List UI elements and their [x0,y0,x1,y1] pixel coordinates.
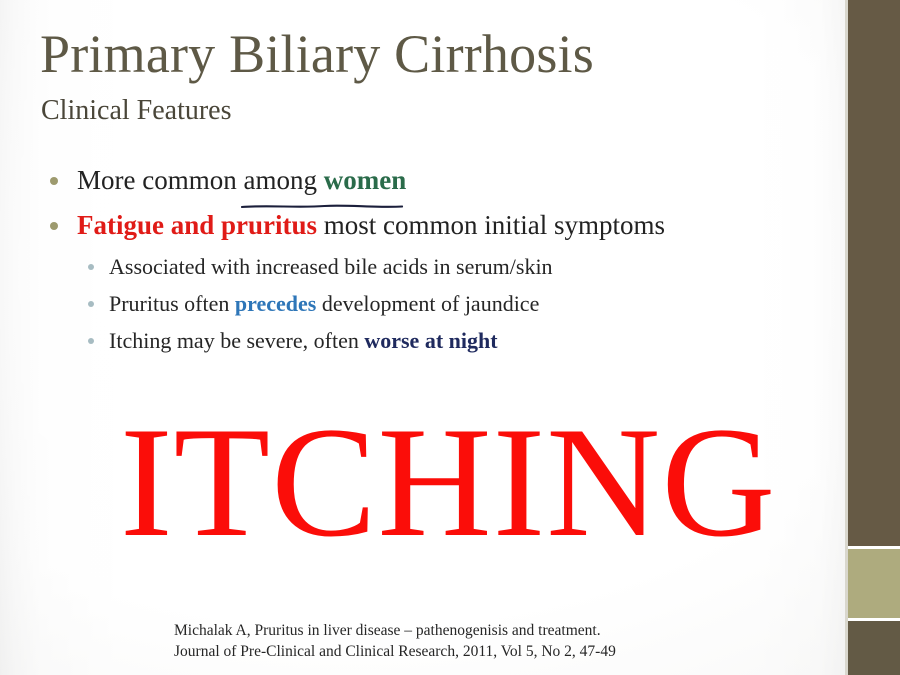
sub-bullet-dot-icon [88,264,94,270]
sub-bullet-text: development of jaundice [316,291,539,316]
bullet-dot-icon [50,177,58,185]
sub-bullet-text: Pruritus often [109,291,235,316]
sidebar-band-bottom [848,621,900,675]
citation-block: Michalak A, Pruritus in liver disease – … [174,620,616,662]
citation-line-2: Journal of Pre-Clinical and Clinical Res… [174,641,616,662]
sub-bullet-text: Associated with increased bile acids in … [109,254,553,279]
sub-bullet-bile-acids: Associated with increased bile acids in … [44,248,834,285]
headline-itching: ITCHING [120,404,776,562]
sub-bullet-precedes-jaundice: Pruritus often precedes development of j… [44,285,834,322]
bullet-list: More common among women Fatigue and prur… [44,158,834,359]
sub-bullet-dot-icon [88,338,94,344]
slide-title: Primary Biliary Cirrhosis [40,26,594,83]
slide-subtitle: Clinical Features [41,96,232,127]
sub-bullet-worse-at-night: Itching may be severe, often worse at ni… [44,322,834,359]
underlined-phrase: among women [243,158,406,203]
bullet-dot-icon [50,222,58,230]
slide-side-decoration [845,0,900,675]
sidebar-band-top [848,0,900,546]
presentation-slide: Primary Biliary Cirrhosis Clinical Featu… [0,0,900,675]
sub-bullet-dot-icon [88,301,94,307]
citation-line-1: Michalak A, Pruritus in liver disease – … [174,620,616,641]
bullet-text-plain: most common initial symptoms [317,210,665,240]
emphasis-precedes: precedes [235,291,316,316]
sub-bullet-text: Itching may be severe, often [109,328,364,353]
emphasis-worse-at-night: worse at night [364,328,497,353]
emphasis-fatigue-and-pruritus: Fatigue and pruritus [77,210,317,240]
sidebar-band-middle [848,549,900,618]
bullet-text-plain: More common [77,165,243,195]
emphasis-women: women [324,165,407,195]
bullet-item-more-common: More common among women [44,158,834,203]
bullet-item-fatigue-pruritus: Fatigue and pruritus most common initial… [44,203,834,248]
underlined-text-plain: among [243,165,323,195]
